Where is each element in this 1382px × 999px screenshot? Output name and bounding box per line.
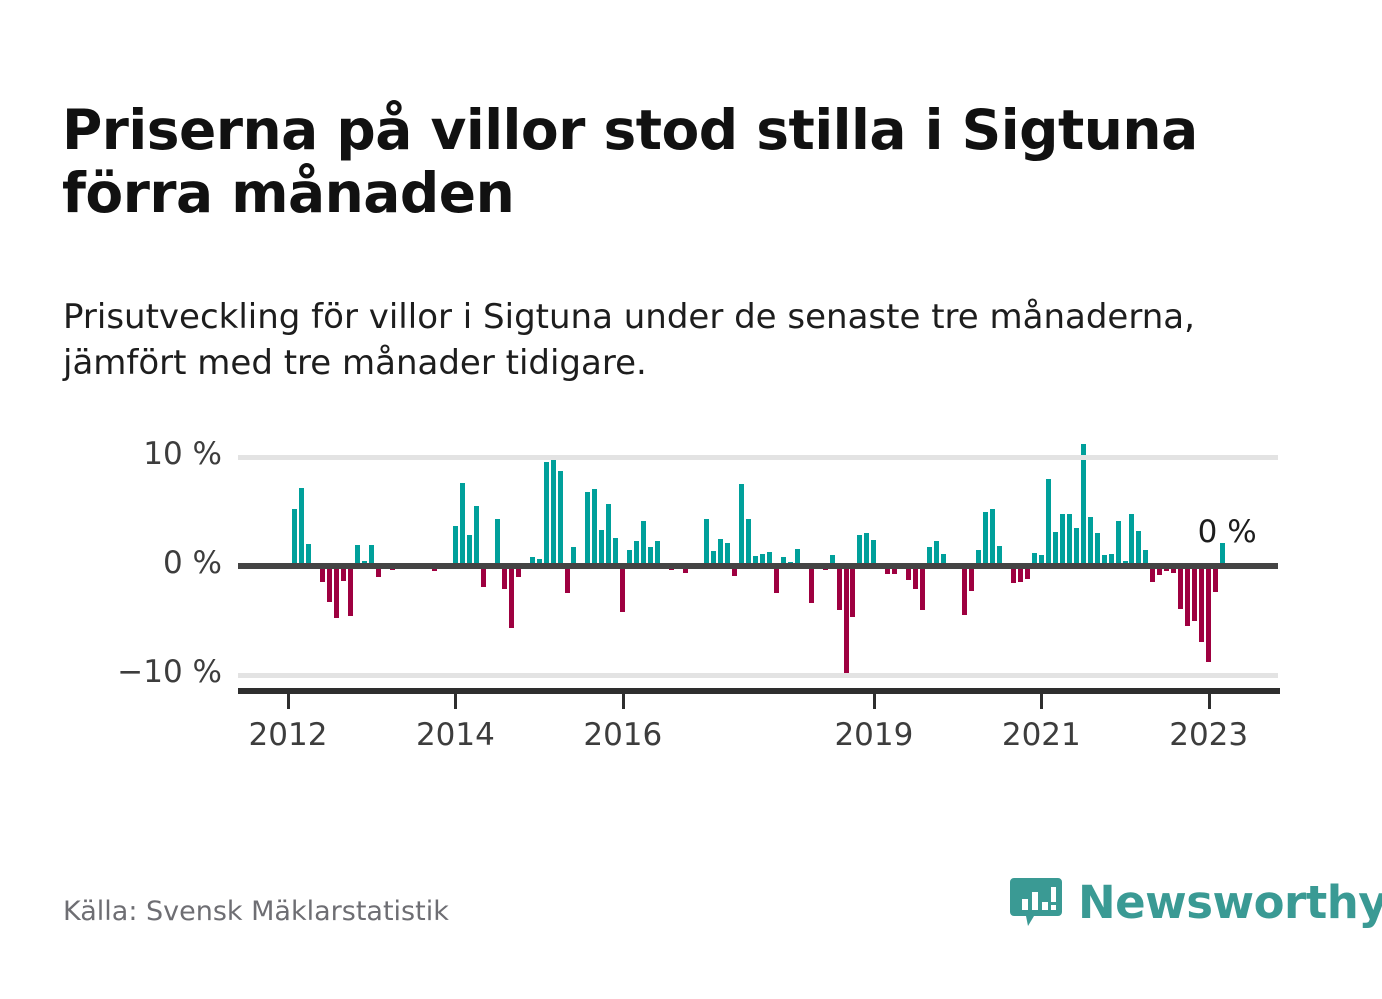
bar <box>481 566 486 587</box>
bar <box>1213 566 1218 592</box>
bar <box>1206 566 1211 662</box>
bar <box>634 541 639 566</box>
plot-area <box>238 440 1278 690</box>
bar <box>641 521 646 566</box>
bar <box>788 562 793 566</box>
bar <box>941 554 946 566</box>
bar <box>1185 566 1190 626</box>
bar-series <box>238 440 1278 690</box>
bar <box>1025 566 1030 579</box>
bar <box>355 545 360 566</box>
bar <box>857 535 862 566</box>
last-value-annotation: 0 % <box>1198 514 1257 550</box>
bar <box>669 566 674 570</box>
bar <box>1102 555 1107 566</box>
zero-axis-line <box>238 563 1278 569</box>
bar <box>962 566 967 615</box>
bar <box>620 566 625 612</box>
bar <box>390 566 395 570</box>
bar <box>795 549 800 566</box>
logo-wordmark: Newsworthy <box>1078 880 1382 925</box>
x-axis-tick <box>454 694 457 709</box>
bar <box>844 566 849 675</box>
x-axis-tick-label: 2016 <box>563 717 683 753</box>
bar <box>711 551 716 566</box>
bar <box>467 535 472 566</box>
bar <box>655 541 660 566</box>
x-axis-tick-label: 2012 <box>228 717 348 753</box>
bar <box>850 566 855 617</box>
bar <box>753 556 758 566</box>
page-title: Priserna på villor stod stilla i Sigtuna… <box>62 99 1312 224</box>
bar <box>599 530 604 566</box>
bar <box>1060 514 1065 566</box>
bar <box>767 552 772 566</box>
bar <box>1136 531 1141 566</box>
newsworthy-logo: Newsworthy <box>1008 874 1382 930</box>
y-axis-tick-label: −10 % <box>0 654 222 690</box>
bar <box>348 566 353 616</box>
bar <box>495 519 500 566</box>
bar <box>1199 566 1204 642</box>
bar <box>613 538 618 566</box>
bar <box>1220 543 1225 566</box>
x-axis-tick <box>873 694 876 709</box>
bar <box>1171 566 1176 573</box>
source-note: Källa: Svensk Mäklarstatistik <box>63 896 449 927</box>
bar <box>327 566 332 602</box>
bar <box>509 566 514 628</box>
bar <box>544 462 549 566</box>
bar <box>864 533 869 566</box>
bar <box>1192 566 1197 621</box>
bar <box>1129 514 1134 566</box>
bar <box>920 566 925 610</box>
bar <box>1011 566 1016 583</box>
bar <box>362 561 367 566</box>
bar <box>969 566 974 591</box>
bar <box>1053 532 1058 566</box>
bar <box>592 489 597 566</box>
x-axis-tick <box>622 694 625 709</box>
y-axis-tick-label: 0 % <box>0 545 222 581</box>
bar <box>530 557 535 566</box>
bar <box>585 492 590 566</box>
bar <box>1074 528 1079 566</box>
bar <box>1046 479 1051 566</box>
bar <box>1032 553 1037 566</box>
bar <box>837 566 842 610</box>
bar <box>1116 521 1121 566</box>
gridline <box>238 455 1278 460</box>
bar <box>334 566 339 618</box>
x-axis-tick <box>287 694 290 709</box>
bar <box>823 566 828 570</box>
bar <box>341 566 346 581</box>
y-axis-tick-label: 10 % <box>0 436 222 472</box>
infographic-page: Priserna på villor stod stilla i Sigtuna… <box>0 0 1382 999</box>
page-subtitle: Prisutveckling för villor i Sigtuna unde… <box>63 295 1273 386</box>
bar <box>997 546 1002 566</box>
bar <box>558 471 563 566</box>
x-axis-tick <box>1040 694 1043 709</box>
bar <box>369 545 374 566</box>
x-axis-tick <box>1208 694 1211 709</box>
x-axis-tick-label: 2023 <box>1149 717 1269 753</box>
bar <box>1088 517 1093 566</box>
bar <box>460 483 465 566</box>
bar <box>516 566 521 577</box>
bar <box>774 566 779 593</box>
bar <box>704 519 709 566</box>
bar <box>648 547 653 566</box>
bar <box>320 566 325 582</box>
bar <box>1178 566 1183 609</box>
bar <box>1123 561 1128 566</box>
bar <box>551 459 556 566</box>
bar <box>474 506 479 566</box>
bar <box>739 484 744 566</box>
bar <box>809 566 814 603</box>
x-axis-tick-label: 2014 <box>395 717 515 753</box>
bar <box>453 526 458 566</box>
bar <box>885 566 890 574</box>
bar <box>627 550 632 566</box>
bar <box>1157 566 1162 575</box>
bar <box>913 566 918 589</box>
bar <box>718 539 723 566</box>
bar <box>1164 566 1169 571</box>
x-axis-tick-label: 2021 <box>981 717 1101 753</box>
bar <box>432 566 437 571</box>
bar-chart-speech-bubble-icon <box>1008 874 1064 930</box>
x-axis-line <box>238 688 1280 694</box>
bar <box>683 566 688 573</box>
bar <box>1039 555 1044 566</box>
bar <box>830 555 835 566</box>
bar <box>746 519 751 566</box>
bar <box>502 566 507 589</box>
bar <box>1109 554 1114 566</box>
bar <box>376 566 381 577</box>
bar <box>990 509 995 566</box>
bar <box>906 566 911 580</box>
bar <box>781 557 786 566</box>
bar <box>425 566 430 569</box>
bar <box>892 566 897 574</box>
bar <box>1067 514 1072 566</box>
bar <box>725 543 730 566</box>
bar <box>1143 550 1148 566</box>
bar <box>976 550 981 566</box>
bar <box>1095 533 1100 566</box>
bar <box>983 512 988 567</box>
x-axis-tick-label: 2019 <box>814 717 934 753</box>
bar <box>299 488 304 566</box>
bar <box>606 504 611 566</box>
bar <box>565 566 570 593</box>
bar <box>871 540 876 566</box>
bar <box>934 541 939 566</box>
bar <box>927 547 932 566</box>
bar <box>383 566 388 568</box>
bar <box>760 554 765 566</box>
bar <box>537 559 542 566</box>
bar <box>1081 444 1086 566</box>
gridline <box>238 673 1278 678</box>
bar <box>571 547 576 566</box>
bar <box>1150 566 1155 582</box>
bar <box>732 566 737 576</box>
bar <box>292 509 297 566</box>
bar <box>1018 566 1023 582</box>
bar <box>306 544 311 566</box>
